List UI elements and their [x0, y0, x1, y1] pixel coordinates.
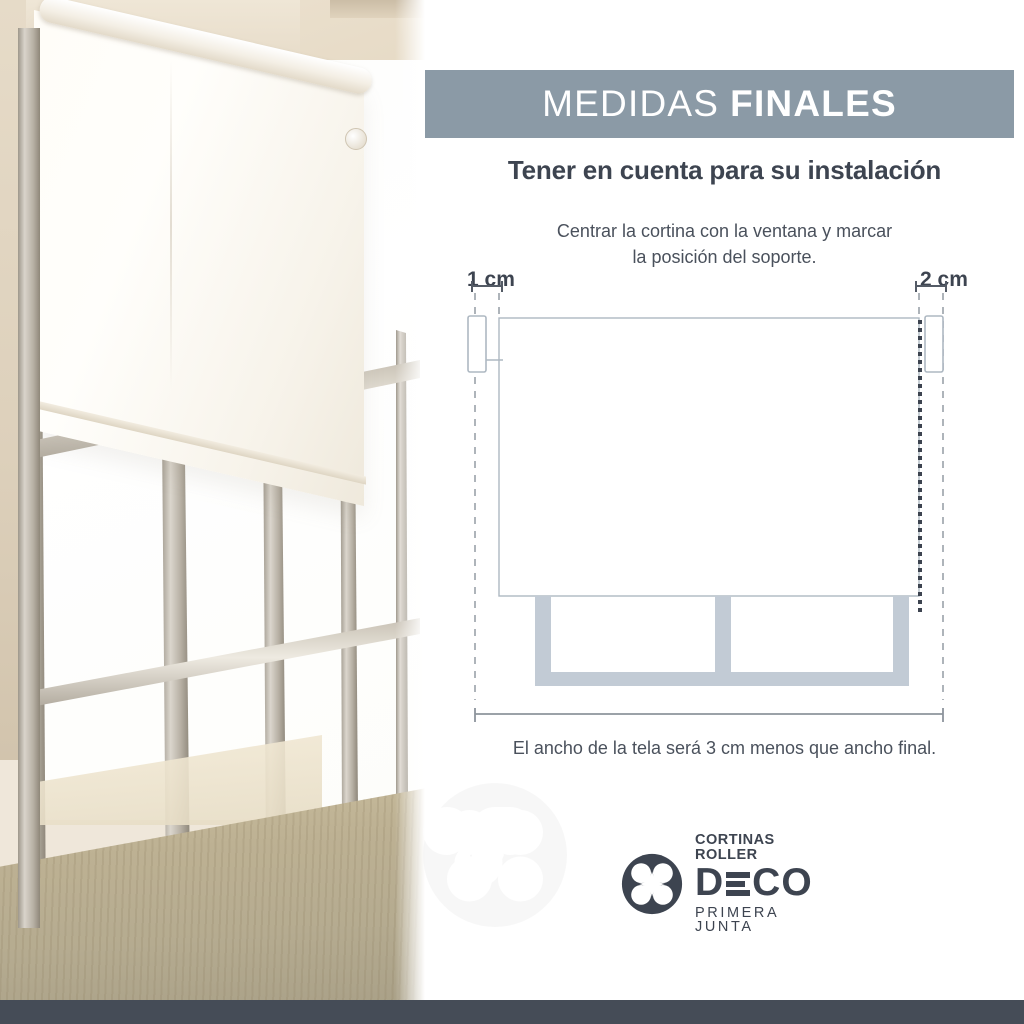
- brand-mark-icon: [620, 852, 684, 916]
- poster-root: MEDIDAS FINALES Tener en cuenta para su …: [0, 0, 1024, 1024]
- main-post: [18, 28, 40, 928]
- frame-bottom-rail: [535, 672, 909, 686]
- blind-fabric-outline: [499, 318, 919, 596]
- brand-letters-co: CO: [752, 864, 813, 902]
- roller-end-cap: [345, 128, 367, 150]
- bottom-bar: [0, 1000, 1024, 1024]
- brand-name: D CO: [695, 864, 835, 902]
- bracket-left: [468, 316, 486, 372]
- info-panel: MEDIDAS FINALES Tener en cuenta para su …: [425, 0, 1024, 1000]
- installation-diagram: [425, 0, 1024, 760]
- roller-blind-fabric-photo: [34, 10, 364, 506]
- product-photo: [0, 0, 425, 1024]
- brand-watermark-icon: [420, 780, 570, 930]
- fabric-fold: [170, 60, 172, 390]
- brand-letter-e-icon: [726, 870, 750, 898]
- brand-bottom-text: PRIMERA JUNTA: [695, 906, 835, 935]
- brand-logo: CORTINAS ROLLER D CO PRIMERA JUNTA: [620, 845, 835, 923]
- footnote-text: El ancho de la tela será 3 cm menos que …: [425, 738, 1024, 759]
- bracket-right: [925, 316, 943, 372]
- brand-letter-d: D: [695, 864, 724, 902]
- brand-wordmark: CORTINAS ROLLER D CO PRIMERA JUNTA: [695, 833, 835, 934]
- brand-top-text: CORTINAS ROLLER: [695, 833, 835, 862]
